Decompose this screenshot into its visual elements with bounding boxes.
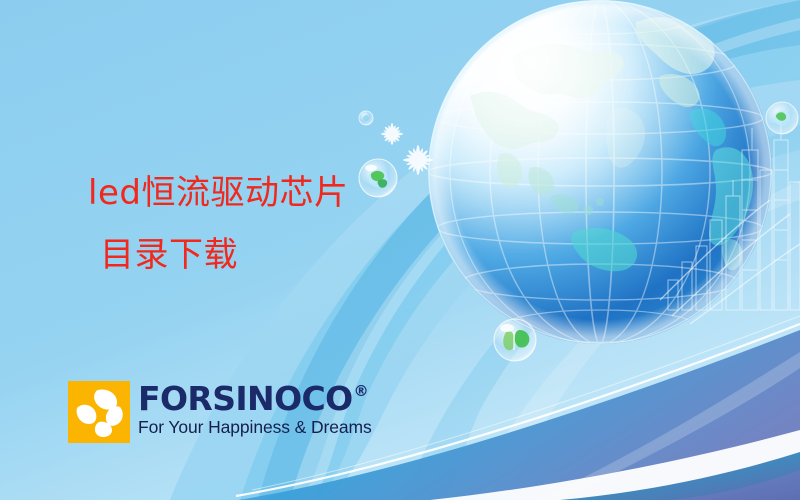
brand-logo[interactable]: FORSINOCO ® For Your Happiness & Dreams: [68, 381, 372, 443]
four-petal-flower-icon: [68, 381, 130, 443]
bubble-globe-icon: [359, 111, 373, 125]
logo-wordmark-text: FORSINOCO: [138, 382, 353, 415]
page-title: led恒流驱动芯片 目录下载: [88, 162, 348, 286]
registered-trademark-icon: ®: [354, 384, 368, 399]
headline-line-1: led恒流驱动芯片: [88, 162, 348, 224]
logo-wordmark: FORSINOCO ®: [138, 382, 372, 415]
headline-line-2: 目录下载: [88, 224, 348, 286]
bubble-leaf-icon: [494, 319, 536, 361]
bubble-globe-icon: [766, 102, 798, 134]
banner-hero: led恒流驱动芯片 目录下载 FORSINOCO ® For Your Happ…: [0, 0, 800, 500]
logo-tagline: For Your Happiness & Dreams: [138, 418, 372, 437]
bubble-globe-icon: [359, 159, 397, 197]
